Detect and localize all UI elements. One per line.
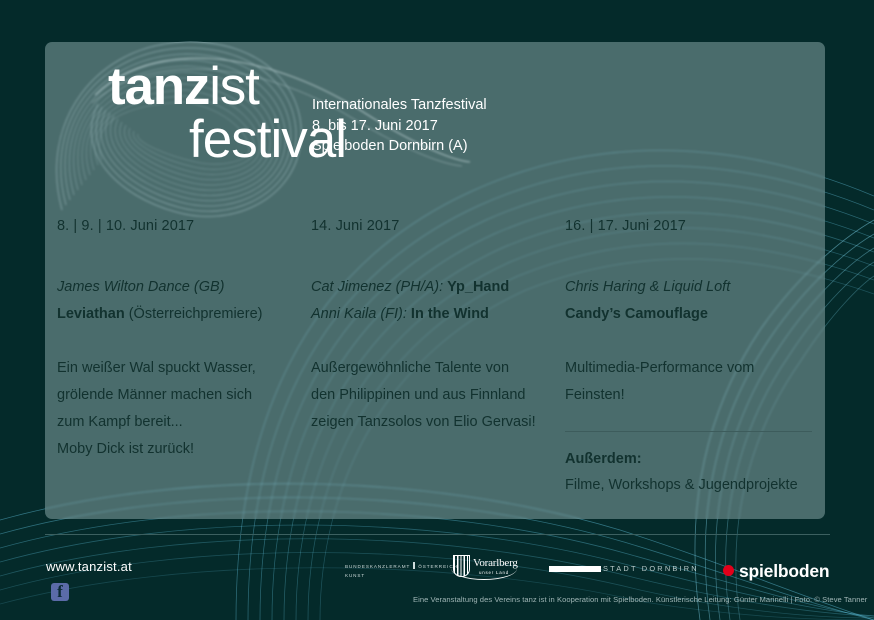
column-1-date: 8. | 9. | 10. Juni 2017 — [57, 218, 289, 234]
column-3-desc-line-2: Feinsten! — [565, 382, 803, 409]
bka-sub: KUNST — [345, 571, 458, 580]
column-2-artist-line-2: Anni Kaila (FI): In the Wind — [311, 301, 543, 328]
meta-line-1: Internationales Tanzfestival — [312, 95, 487, 116]
dornbirn-bar-icon — [549, 566, 601, 572]
column-1-description: Ein weißer Wal spuckt Wasser, grölende M… — [57, 355, 289, 463]
program-column-3: 16. | 17. Juni 2017 Chris Haring & Liqui… — [565, 218, 825, 498]
spielboden-logo: spielboden — [723, 561, 829, 581]
bka-divider-bar — [413, 562, 415, 569]
website-link[interactable]: www.tanzist.at — [46, 559, 132, 574]
column-3-artist-line-2: Candy’s Camouflage — [565, 301, 803, 328]
vorarlberg-logo: Vorarlberg unser Land — [449, 552, 519, 584]
column-1-piece-title: Leviathan — [57, 306, 125, 322]
program-columns: 8. | 9. | 10. Juni 2017 James Wilton Dan… — [57, 218, 825, 498]
column-3-divider — [565, 431, 812, 432]
column-3-artist-line-1: Chris Haring & Liquid Loft — [565, 274, 803, 301]
column-3-date: 16. | 17. Juni 2017 — [565, 218, 803, 234]
credit-line: Eine Veranstaltung des Vereins tanz ist … — [413, 595, 867, 604]
column-2-date: 14. Juni 2017 — [311, 218, 543, 234]
column-2-description: Außergewöhnliche Talente von den Philipp… — [311, 355, 543, 436]
stadt-dornbirn-logo: STADT DORNBIRN — [549, 563, 709, 577]
spielboden-dot-icon — [723, 565, 734, 576]
column-3-artist-name: Chris Haring & Liquid Loft — [565, 279, 730, 295]
column-3-description: Multimedia-Performance vom Feinsten! — [565, 355, 803, 409]
program-column-1: 8. | 9. | 10. Juni 2017 James Wilton Dan… — [57, 218, 311, 498]
column-2-piece-title-1: Yp_Hand — [447, 279, 509, 295]
column-3-desc-line-1: Multimedia-Performance vom — [565, 355, 803, 382]
bka-main: BUNDESKANZLERAMT — [345, 564, 410, 569]
dornbirn-text: STADT DORNBIRN — [603, 564, 699, 573]
column-2-artist-1-name: Cat Jimenez (PH/A): — [311, 279, 447, 295]
column-1-desc-line-2: grölende Männer machen sich — [57, 382, 289, 409]
column-1-desc-line-4: Moby Dick ist zurück! — [57, 436, 289, 463]
column-2-artist-2-name: Anni Kaila (FI): — [311, 306, 411, 322]
column-1-desc-line-3: zum Kampf bereit... — [57, 409, 289, 436]
meta-line-2: 8. bis 17. Juni 2017 — [312, 116, 487, 137]
program-column-2: 14. Juni 2017 Cat Jimenez (PH/A): Yp_Han… — [311, 218, 565, 498]
column-1-artist-line-1: James Wilton Dance (GB) — [57, 274, 289, 301]
bundeskanzleramt-logo: BUNDESKANZLERAMTÖSTERREICH KUNST — [345, 562, 458, 580]
column-2-desc-line-2: den Philippinen und aus Finnland — [311, 382, 543, 409]
column-3-extra-text: Filme, Workshops & Jugendprojekte — [565, 472, 803, 498]
logo-word-ist: ist — [209, 57, 258, 116]
column-2-desc-line-1: Außergewöhnliche Talente von — [311, 355, 543, 382]
column-2-artist-line-1: Cat Jimenez (PH/A): Yp_Hand — [311, 274, 543, 301]
column-2-desc-line-3: zeigen Tanzsolos von Elio Gervasi! — [311, 409, 543, 436]
column-1-artist-line-2: Leviathan (Österreichpremiere) — [57, 301, 289, 328]
poster-panel: tanzist festival Internationales Tanzfes… — [45, 42, 825, 519]
column-3-piece-title: Candy’s Camouflage — [565, 306, 708, 322]
meta-line-3: Spielboden Dornbirn (A) — [312, 136, 487, 157]
festival-meta: Internationales Tanzfestival 8. bis 17. … — [312, 95, 487, 157]
column-3-extra-title: Außerdem: — [565, 446, 803, 472]
spielboden-wordmark: spielboden — [739, 561, 829, 581]
column-2-piece-title-2: In the Wind — [411, 306, 489, 322]
vorarlberg-name: Vorarlberg — [473, 557, 518, 569]
facebook-icon[interactable]: f — [51, 583, 69, 601]
logo-word-tanz: tanz — [108, 57, 209, 116]
column-1-desc-line-1: Ein weißer Wal spuckt Wasser, — [57, 355, 289, 382]
footer-divider — [45, 534, 830, 535]
column-1-piece-note: (Österreichpremiere) — [125, 306, 263, 322]
column-1-artist-1-name: James Wilton Dance (GB) — [57, 279, 224, 295]
vorarlberg-subtitle: unser Land — [479, 570, 509, 575]
